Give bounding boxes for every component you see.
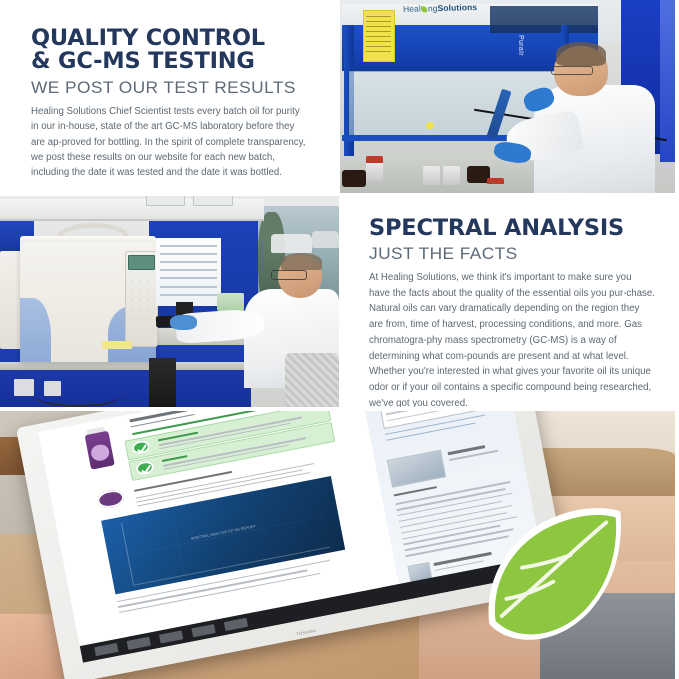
reagent-bottle-1: [366, 162, 383, 181]
gutter-vertical-top: [336, 0, 340, 195]
tissue-box: [217, 293, 244, 310]
gutter-right-margin: [675, 0, 679, 679]
sidebar-heading-2: [394, 486, 438, 497]
infographic-root: QUALITY CONTROL & GC-MS TESTING WE POST …: [0, 0, 679, 679]
yellow-marker-dot: [426, 122, 433, 130]
spectral-analysis-panel: SPECTRAL ANALYSIS JUST THE FACTS At Heal…: [339, 195, 679, 409]
blue-glove: [170, 315, 197, 330]
sticky-note: [102, 341, 133, 350]
report-subtitle-line: [131, 414, 194, 428]
window-car-1: [271, 234, 312, 253]
reagent-bottle-1-cap: [366, 156, 383, 163]
quality-control-body: Healing Solutions Chief Scientist tests …: [31, 104, 309, 181]
chart-watermark: SPECTRAL ANALYSIS GC-MS REPORT: [191, 525, 257, 542]
fume-hood-inner-shadow: [490, 6, 598, 33]
red-cap-jar: [487, 178, 504, 185]
gutter-horizontal-lower: [0, 407, 679, 411]
gutter-horizontal-upper: [0, 193, 679, 196]
taskbar-icon-browser: [159, 630, 184, 644]
quality-control-panel: QUALITY CONTROL & GC-MS TESTING WE POST …: [0, 0, 339, 193]
hood-logo-text-pre: Heal: [403, 3, 421, 13]
photo-gcms-instrument-lab: [0, 195, 339, 409]
scientist-hair: [556, 42, 606, 65]
hazard-warning-label: [363, 10, 395, 62]
reagent-bottle-2: [423, 166, 440, 185]
lab-chair: [285, 353, 339, 409]
spectral-section-badge: [96, 488, 125, 510]
gcms-lab-scene: [0, 195, 339, 409]
computer-tower: [149, 358, 176, 409]
workstation-monitor: [156, 238, 221, 306]
shelf-box-1: [146, 195, 185, 206]
tablet-brand-mark: TOSHIBA: [296, 628, 317, 637]
leaf-icon: [421, 6, 427, 12]
dark-sample-jar: [342, 170, 366, 187]
safety-glasses-icon: [551, 66, 593, 76]
power-outlet-1: [14, 379, 34, 396]
sidebar-thumbnail-image: [387, 449, 446, 487]
window-car-2: [312, 231, 339, 248]
shelf-box-2: [193, 195, 232, 206]
monitor-screen: [156, 238, 221, 306]
hood-logo-text-post: ng: [428, 3, 438, 13]
spectral-analysis-headline: SPECTRAL ANALYSIS: [369, 217, 667, 240]
healing-solutions-hood-logo: HealngSolutions: [403, 2, 477, 14]
lower-bench-shelf: [0, 362, 251, 371]
scientist-hair: [281, 253, 322, 270]
safety-glasses-icon: [271, 270, 307, 281]
fume-hood-scene: HealngSolutions PuraIr: [339, 0, 675, 193]
compound-results-table: [374, 410, 498, 429]
spectral-analysis-body: At Healing Solutions, we think it's impo…: [369, 270, 655, 409]
photo-tablet-test-report: SPECTRAL ANALYSIS GC-MS REPORT: [0, 410, 675, 679]
quality-control-subhead: WE POST OUR TEST RESULTS: [31, 78, 331, 98]
gcms-spectrum-chart: SPECTRAL ANALYSIS GC-MS REPORT: [102, 476, 346, 594]
hood-model-label: PuraIr: [517, 35, 524, 56]
power-cable: [34, 383, 122, 406]
photo-scientist-fume-hood: HealngSolutions PuraIr: [339, 0, 675, 193]
tablet-scene: SPECTRAL ANALYSIS GC-MS REPORT: [0, 410, 675, 679]
spectral-analysis-subhead: JUST THE FACTS: [369, 244, 673, 264]
quality-control-headline: QUALITY CONTROL & GC-MS TESTING: [31, 27, 325, 73]
healing-solutions-leaf-logo: [452, 499, 655, 655]
reagent-bottle-3: [443, 166, 460, 185]
hood-logo-brand: Solutions: [437, 2, 477, 13]
gcms-display-screen: [128, 255, 155, 270]
